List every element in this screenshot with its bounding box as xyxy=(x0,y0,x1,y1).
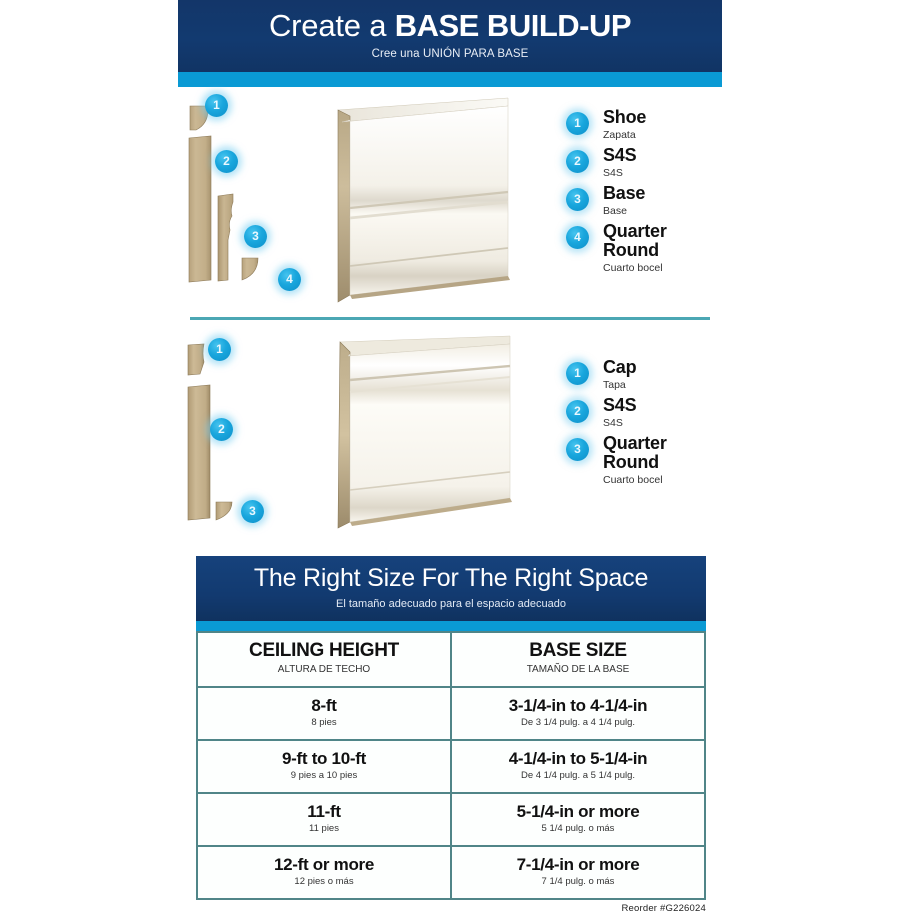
legend-badge-2: 2 xyxy=(566,150,589,173)
reorder-code: Reorder #G226024 xyxy=(621,903,706,914)
cell-ceiling-es-3: 12 pies o más xyxy=(202,875,446,888)
cell-base-es-1: De 4 1/4 pulg. a 5 1/4 pulg. xyxy=(456,769,700,782)
legend-item-base: 3 Base Base xyxy=(566,184,708,218)
legend-label-en-quarter-round: Quarter Round xyxy=(603,222,708,260)
legend-item-quarter-round: 4 Quarter Round Cuarto bocel xyxy=(566,222,708,275)
legend-badge-3: 3 xyxy=(566,188,589,211)
base-profile-shape xyxy=(218,194,233,281)
page-header: Create a BASE BUILD-UP Cree una UNIÓN PA… xyxy=(178,0,722,72)
diagram-section-cap: 1 2 3 1 Cap Tapa 2 S4S S4S 3 xyxy=(178,330,722,535)
cell-ceiling-en-2: 11-ft xyxy=(202,802,446,821)
legend-item-quarter-round-2: 3 Quarter Round Cuarto bocel xyxy=(566,434,708,487)
size-table: CEILING HEIGHT ALTURA DE TECHO BASE SIZE… xyxy=(196,631,706,900)
legend-label-en-s4s-2: S4S xyxy=(603,396,636,415)
column-header-base-size: BASE SIZE TAMAÑO DE LA BASE xyxy=(451,632,705,687)
table-header: The Right Size For The Right Space El ta… xyxy=(196,556,706,621)
legend-badge-2b: 2 xyxy=(566,400,589,423)
badge-s4s-2: 2 xyxy=(210,418,233,441)
badge-quarter-round: 4 xyxy=(278,268,301,291)
infographic-page: Create a BASE BUILD-UP Cree una UNIÓN PA… xyxy=(0,0,900,900)
legend-item-s4s-2: 2 S4S S4S xyxy=(566,396,708,430)
legend-badge-1b: 1 xyxy=(566,362,589,385)
quarter-round-profile-shape xyxy=(242,258,258,280)
cell-base-3: 7-1/4-in or more 7 1/4 pulg. o más xyxy=(451,846,705,899)
table-accent-bar xyxy=(196,621,706,631)
cell-ceiling-en-3: 12-ft or more xyxy=(202,855,446,874)
column-header-en-1: BASE SIZE xyxy=(456,641,700,661)
legend-label-es-shoe: Zapata xyxy=(603,128,646,142)
legend-label-es-quarter-round-2: Cuarto bocel xyxy=(603,473,708,487)
cell-base-en-0: 3-1/4-in to 4-1/4-in xyxy=(456,696,700,715)
badge-quarter-round-2: 3 xyxy=(241,500,264,523)
table-subtitle: El tamaño adecuado para el espacio adecu… xyxy=(196,593,706,610)
quarter-round-profile-shape-2 xyxy=(216,502,232,520)
badge-s4s: 2 xyxy=(215,150,238,173)
header-accent-bar xyxy=(178,72,722,87)
legend-label-en-s4s: S4S xyxy=(603,146,636,165)
cell-base-1: 4-1/4-in to 5-1/4-in De 4 1/4 pulg. a 5 … xyxy=(451,740,705,793)
table-row: 8-ft 8 pies 3-1/4-in to 4-1/4-in De 3 1/… xyxy=(197,687,705,740)
s4s-profile-shape xyxy=(189,136,211,282)
cell-ceiling-es-1: 9 pies a 10 pies xyxy=(202,769,446,782)
legend-badge-4: 4 xyxy=(566,226,589,249)
legend-item-cap: 1 Cap Tapa xyxy=(566,358,708,392)
cell-base-en-2: 5-1/4-in or more xyxy=(456,802,700,821)
cell-base-en-1: 4-1/4-in to 5-1/4-in xyxy=(456,749,700,768)
page-subtitle: Cree una UNIÓN PARA BASE xyxy=(178,43,722,60)
cell-base-es-0: De 3 1/4 pulg. a 4 1/4 pulg. xyxy=(456,716,700,729)
legend-label-es-base: Base xyxy=(603,204,645,218)
table-row: 9-ft to 10-ft 9 pies a 10 pies 4-1/4-in … xyxy=(197,740,705,793)
cap-buildup-illustration xyxy=(178,330,578,535)
cell-base-es-3: 7 1/4 pulg. o más xyxy=(456,875,700,888)
legend-cap-buildup: 1 Cap Tapa 2 S4S S4S 3 Quarter Round Cua… xyxy=(566,358,708,491)
cap-molding-3d xyxy=(338,336,512,528)
cell-ceiling-3: 12-ft or more 12 pies o más xyxy=(197,846,451,899)
base-buildup-illustration xyxy=(178,90,578,315)
page-title-light: Create a xyxy=(269,8,395,43)
cell-ceiling-2: 11-ft 11 pies xyxy=(197,793,451,846)
base-molding-3d xyxy=(338,98,510,302)
table-header-row: CEILING HEIGHT ALTURA DE TECHO BASE SIZE… xyxy=(197,632,705,687)
legend-item-shoe: 1 Shoe Zapata xyxy=(566,108,708,142)
legend-label-en-quarter-round-2: Quarter Round xyxy=(603,434,708,472)
legend-label-es-s4s-2: S4S xyxy=(603,416,636,430)
column-header-es-0: ALTURA DE TECHO xyxy=(202,663,446,676)
legend-label-es-s4s: S4S xyxy=(603,166,636,180)
cell-ceiling-es-0: 8 pies xyxy=(202,716,446,729)
page-title: Create a BASE BUILD-UP xyxy=(178,0,722,43)
legend-base-buildup: 1 Shoe Zapata 2 S4S S4S 3 Base Base xyxy=(566,108,708,279)
cell-ceiling-0: 8-ft 8 pies xyxy=(197,687,451,740)
section-divider xyxy=(190,317,710,320)
column-header-ceiling-height: CEILING HEIGHT ALTURA DE TECHO xyxy=(197,632,451,687)
diagram-section-base: 1 2 3 4 1 Shoe Zapata 2 S4S S4S 3 xyxy=(178,90,722,315)
legend-label-es-cap: Tapa xyxy=(603,378,636,392)
cell-ceiling-es-2: 11 pies xyxy=(202,822,446,835)
page-title-bold: BASE BUILD-UP xyxy=(395,8,631,43)
cell-base-0: 3-1/4-in to 4-1/4-in De 3 1/4 pulg. a 4 … xyxy=(451,687,705,740)
legend-badge-1: 1 xyxy=(566,112,589,135)
legend-label-es-quarter-round: Cuarto bocel xyxy=(603,261,708,275)
cell-base-en-3: 7-1/4-in or more xyxy=(456,855,700,874)
legend-badge-3b: 3 xyxy=(566,438,589,461)
badge-cap: 1 xyxy=(208,338,231,361)
cell-ceiling-1: 9-ft to 10-ft 9 pies a 10 pies xyxy=(197,740,451,793)
cell-base-2: 5-1/4-in or more 5 1/4 pulg. o más xyxy=(451,793,705,846)
table-title: The Right Size For The Right Space xyxy=(196,565,706,593)
legend-label-en-base: Base xyxy=(603,184,645,203)
column-header-en-0: CEILING HEIGHT xyxy=(202,641,446,661)
badge-base: 3 xyxy=(244,225,267,248)
size-table-block: The Right Size For The Right Space El ta… xyxy=(196,556,706,900)
cell-ceiling-en-1: 9-ft to 10-ft xyxy=(202,749,446,768)
legend-label-en-cap: Cap xyxy=(603,358,636,377)
legend-label-en-shoe: Shoe xyxy=(603,108,646,127)
cell-ceiling-en-0: 8-ft xyxy=(202,696,446,715)
table-row: 11-ft 11 pies 5-1/4-in or more 5 1/4 pul… xyxy=(197,793,705,846)
cap-profile-shape xyxy=(188,344,204,375)
s4s-profile-shape-2 xyxy=(188,385,210,520)
badge-shoe: 1 xyxy=(205,94,228,117)
table-row: 12-ft or more 12 pies o más 7-1/4-in or … xyxy=(197,846,705,899)
legend-item-s4s: 2 S4S S4S xyxy=(566,146,708,180)
cell-base-es-2: 5 1/4 pulg. o más xyxy=(456,822,700,835)
column-header-es-1: TAMAÑO DE LA BASE xyxy=(456,663,700,676)
